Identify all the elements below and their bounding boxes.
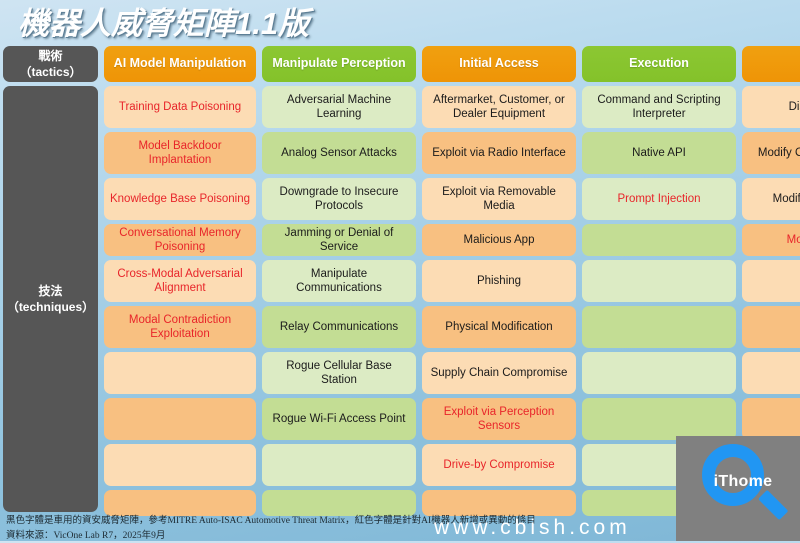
cell-persistence-4[interactable]: Model Impla (742, 224, 800, 256)
cell-persistence-2[interactable]: Modify OS Partition Par (742, 132, 800, 174)
axis-label-tactics: 戰術（tactics） (3, 46, 98, 82)
cell-persistence-3[interactable]: Modify Isola Envir (742, 178, 800, 220)
cell-execution-1[interactable]: Command and Scripting Interpreter (582, 86, 736, 128)
cell-persistence-1[interactable]: Disable Sof (742, 86, 800, 128)
cell-manipulate-perception-9 (262, 444, 416, 486)
ithome-watermark: iThome (676, 436, 800, 541)
page-title: 機器人威脅矩陣1.1版 (18, 0, 309, 43)
cell-initial-access-10 (422, 490, 576, 516)
magnifier-handle-icon (758, 490, 788, 520)
cell-ai-model-manipulation-6[interactable]: Modal Contradiction Exploitation (104, 306, 256, 348)
axis-label-tactics-line1: 戰術 (19, 48, 81, 64)
cell-execution-6 (582, 306, 736, 348)
column-header-persistence[interactable]: Pers (742, 46, 800, 82)
axis-label-techniques-line2: （techniques） (7, 299, 94, 315)
cell-initial-access-3[interactable]: Exploit via Removable Media (422, 178, 576, 220)
cell-initial-access-2[interactable]: Exploit via Radio Interface (422, 132, 576, 174)
cell-initial-access-7[interactable]: Supply Chain Compromise (422, 352, 576, 394)
cell-ai-model-manipulation-2[interactable]: Model Backdoor Implantation (104, 132, 256, 174)
cell-manipulate-perception-3[interactable]: Downgrade to Insecure Protocols (262, 178, 416, 220)
column-header-initial-access[interactable]: Initial Access (422, 46, 576, 82)
matrix-row: Cross-Modal Adversarial AlignmentManipul… (101, 258, 800, 304)
cell-manipulate-perception-2[interactable]: Analog Sensor Attacks (262, 132, 416, 174)
matrix-header-row: 戰術（tactics）AI Model ManipulationManipula… (0, 44, 800, 84)
cell-initial-access-4[interactable]: Malicious App (422, 224, 576, 256)
cell-execution-8 (582, 398, 736, 440)
cell-initial-access-1[interactable]: Aftermarket, Customer, or Dealer Equipme… (422, 86, 576, 128)
cell-ai-model-manipulation-10 (104, 490, 256, 516)
cell-ai-model-manipulation-7 (104, 352, 256, 394)
cell-manipulate-perception-1[interactable]: Adversarial Machine Learning (262, 86, 416, 128)
cell-ai-model-manipulation-1[interactable]: Training Data Poisoning (104, 86, 256, 128)
cell-execution-3[interactable]: Prompt Injection (582, 178, 736, 220)
cell-execution-7 (582, 352, 736, 394)
cell-initial-access-8[interactable]: Exploit via Perception Sensors (422, 398, 576, 440)
axis-label-techniques: 技法（techniques） (3, 86, 98, 512)
matrix-row: Model Backdoor ImplantationAnalog Sensor… (101, 130, 800, 176)
cell-ai-model-manipulation-4[interactable]: Conversational Memory Poisoning (104, 224, 256, 256)
column-header-ai-model-manipulation[interactable]: AI Model Manipulation (104, 46, 256, 82)
cell-ai-model-manipulation-8 (104, 398, 256, 440)
cell-persistence-7 (742, 352, 800, 394)
cell-manipulate-perception-7[interactable]: Rogue Cellular Base Station (262, 352, 416, 394)
cell-manipulate-perception-10 (262, 490, 416, 516)
cell-ai-model-manipulation-5[interactable]: Cross-Modal Adversarial Alignment (104, 260, 256, 302)
cell-persistence-5 (742, 260, 800, 302)
cell-initial-access-6[interactable]: Physical Modification (422, 306, 576, 348)
cell-initial-access-5[interactable]: Phishing (422, 260, 576, 302)
site-watermark: www.cbish.com (434, 516, 631, 540)
cell-manipulate-perception-4[interactable]: Jamming or Denial of Service (262, 224, 416, 256)
matrix-row: Modal Contradiction ExploitationRelay Co… (101, 304, 800, 350)
column-header-manipulate-perception[interactable]: Manipulate Perception (262, 46, 416, 82)
axis-label-tactics-line2: （tactics） (19, 64, 81, 80)
cell-ai-model-manipulation-9 (104, 444, 256, 486)
axis-label-techniques-line1: 技法 (7, 283, 94, 299)
matrix-row: Knowledge Base PoisoningDowngrade to Ins… (101, 176, 800, 222)
ithome-label: iThome (698, 473, 788, 491)
column-header-execution[interactable]: Execution (582, 46, 736, 82)
cell-initial-access-9[interactable]: Drive-by Compromise (422, 444, 576, 486)
matrix-row: Conversational Memory PoisoningJamming o… (101, 222, 800, 258)
cell-persistence-6 (742, 306, 800, 348)
matrix-row: Rogue Cellular Base StationSupply Chain … (101, 350, 800, 396)
cell-manipulate-perception-8[interactable]: Rogue Wi-Fi Access Point (262, 398, 416, 440)
matrix-row: Training Data PoisoningAdversarial Machi… (101, 84, 800, 130)
cell-manipulate-perception-6[interactable]: Relay Communications (262, 306, 416, 348)
cell-execution-4 (582, 224, 736, 256)
cell-execution-5 (582, 260, 736, 302)
cell-execution-2[interactable]: Native API (582, 132, 736, 174)
cell-ai-model-manipulation-3[interactable]: Knowledge Base Poisoning (104, 178, 256, 220)
cell-persistence-8 (742, 398, 800, 440)
cell-manipulate-perception-5[interactable]: Manipulate Communications (262, 260, 416, 302)
